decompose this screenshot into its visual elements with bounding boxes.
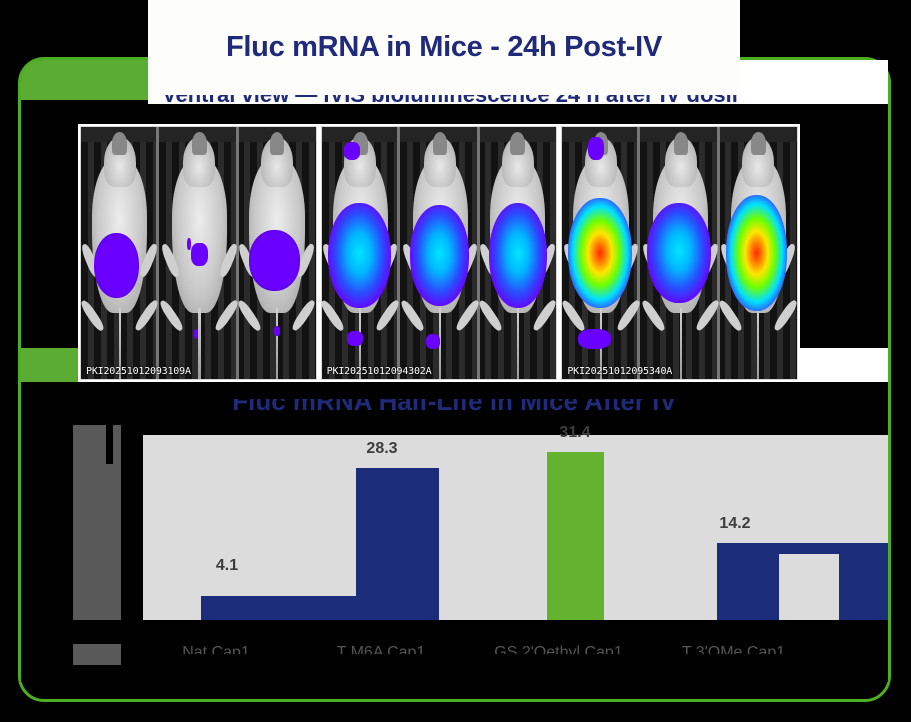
cage-divider [477, 127, 480, 379]
x-axis-category-label: T M6A Cap1 [316, 644, 446, 662]
bioluminescence-signal [588, 137, 604, 160]
bioluminescence-signal [489, 203, 547, 309]
cage-divider [236, 127, 239, 379]
header-right-white-fill [740, 60, 888, 104]
mouse-tail [198, 308, 200, 380]
bar-value-label: 4.1 [197, 557, 257, 575]
bioluminescence-signal [578, 329, 611, 349]
mouse-limb [399, 299, 427, 334]
bioluminescence-signal [274, 326, 280, 336]
mouse-limb [290, 299, 316, 334]
bar-notch-cutout [779, 554, 839, 620]
cage-divider [637, 127, 640, 379]
bioluminescence-signal [194, 329, 198, 339]
ivis-panel[interactable]: PKI20251012093109A [80, 126, 317, 380]
occluding-band-lower [21, 665, 888, 682]
mouse-limb [477, 299, 505, 334]
chart-title: Fluc mRNA Half-Life in Mice After IV [21, 386, 888, 417]
bioluminescence-signal [328, 203, 391, 309]
cage-divider [156, 127, 159, 379]
mouse-subject [241, 127, 314, 379]
y-axis-tick-mark [106, 422, 113, 464]
page-subtitle: Ventral view — IVIS bioluminescence 24 h… [162, 95, 740, 104]
bioluminescence-signal [647, 203, 711, 304]
mouse-subject [163, 127, 236, 379]
bioluminescence-signal [187, 238, 191, 251]
mouse-snout [112, 132, 127, 155]
x-axis-category-label: GS 2'Oethyl Cap1 [471, 644, 646, 662]
bioluminescence-signal [426, 334, 441, 349]
mouse-tail [680, 308, 682, 380]
mouse-snout [433, 132, 448, 155]
mouse-limb [158, 299, 186, 334]
mouse-tail [757, 308, 759, 380]
mouse-subject [324, 127, 397, 379]
bioluminescence-signal [344, 142, 360, 160]
title-banner: Fluc mRNA in Mice - 24h Post-IV [148, 0, 740, 95]
mouse-limb [236, 299, 264, 334]
mouse-subject [404, 127, 477, 379]
mouse-limb [531, 299, 557, 334]
mouse-limb [772, 299, 798, 334]
ivis-panel[interactable]: PKI20251012095340A [561, 126, 798, 380]
bar-value-label: 31.4 [540, 424, 610, 442]
ivis-panel[interactable]: PKI20251012094302A [321, 126, 558, 380]
bioluminescence-signal [726, 195, 787, 311]
bar-t-m6a-cap1[interactable] [356, 468, 439, 620]
panel-id-label: PKI20251012094302A [327, 366, 432, 377]
bioluminescence-signal [249, 230, 300, 290]
panel-id-label: PKI20251012093109A [86, 366, 191, 377]
bar-chart: Fluc mRNA Half-Life in Mice After IV 4.1… [21, 382, 888, 682]
mouse-subject [722, 127, 795, 379]
mouse-snout [751, 132, 766, 155]
x-axis-category-label: Nat Cap1 [156, 644, 276, 662]
mouse-subject [565, 127, 638, 379]
cage-divider [717, 127, 720, 379]
mouse-snout [192, 132, 207, 155]
panel-id-label: PKI20251012095340A [567, 366, 672, 377]
mouse-snout [270, 132, 285, 155]
mouse-limb [80, 299, 106, 334]
mouse-tail [517, 308, 519, 380]
bar-nat-cap1[interactable] [201, 596, 356, 620]
plot-area [143, 435, 888, 620]
bioluminescence-signal [347, 331, 363, 346]
subtitle-strip: Ventral view — IVIS bioluminescence 24 h… [148, 95, 740, 104]
mouse-subject [481, 127, 554, 379]
ivis-imaging-strip: PKI20251012093109A [78, 124, 800, 382]
mouse-snout [674, 132, 689, 155]
mouse-snout [510, 132, 525, 155]
page-title: Fluc mRNA in Mice - 24h Post-IV [226, 31, 662, 64]
x-axis-category-label: T 3'OMe Cap1 [651, 644, 816, 662]
mouse-tail [276, 308, 278, 380]
cage-divider [397, 127, 400, 379]
bioluminescence-signal [568, 198, 632, 309]
mouse-subject [644, 127, 717, 379]
mouse-limb [321, 299, 347, 334]
bar-value-label: 14.2 [700, 515, 770, 533]
bioluminescence-signal [94, 233, 139, 299]
bioluminescence-signal [191, 243, 208, 266]
bar-value-label: 28.3 [352, 440, 412, 458]
occluding-band [21, 620, 888, 644]
bar-gs-2oethyl-cap1[interactable] [547, 452, 604, 620]
left-accent-block [21, 348, 78, 382]
mouse-limb [640, 299, 668, 334]
mouse-subject [83, 127, 156, 379]
bioluminescence-signal [410, 205, 470, 306]
